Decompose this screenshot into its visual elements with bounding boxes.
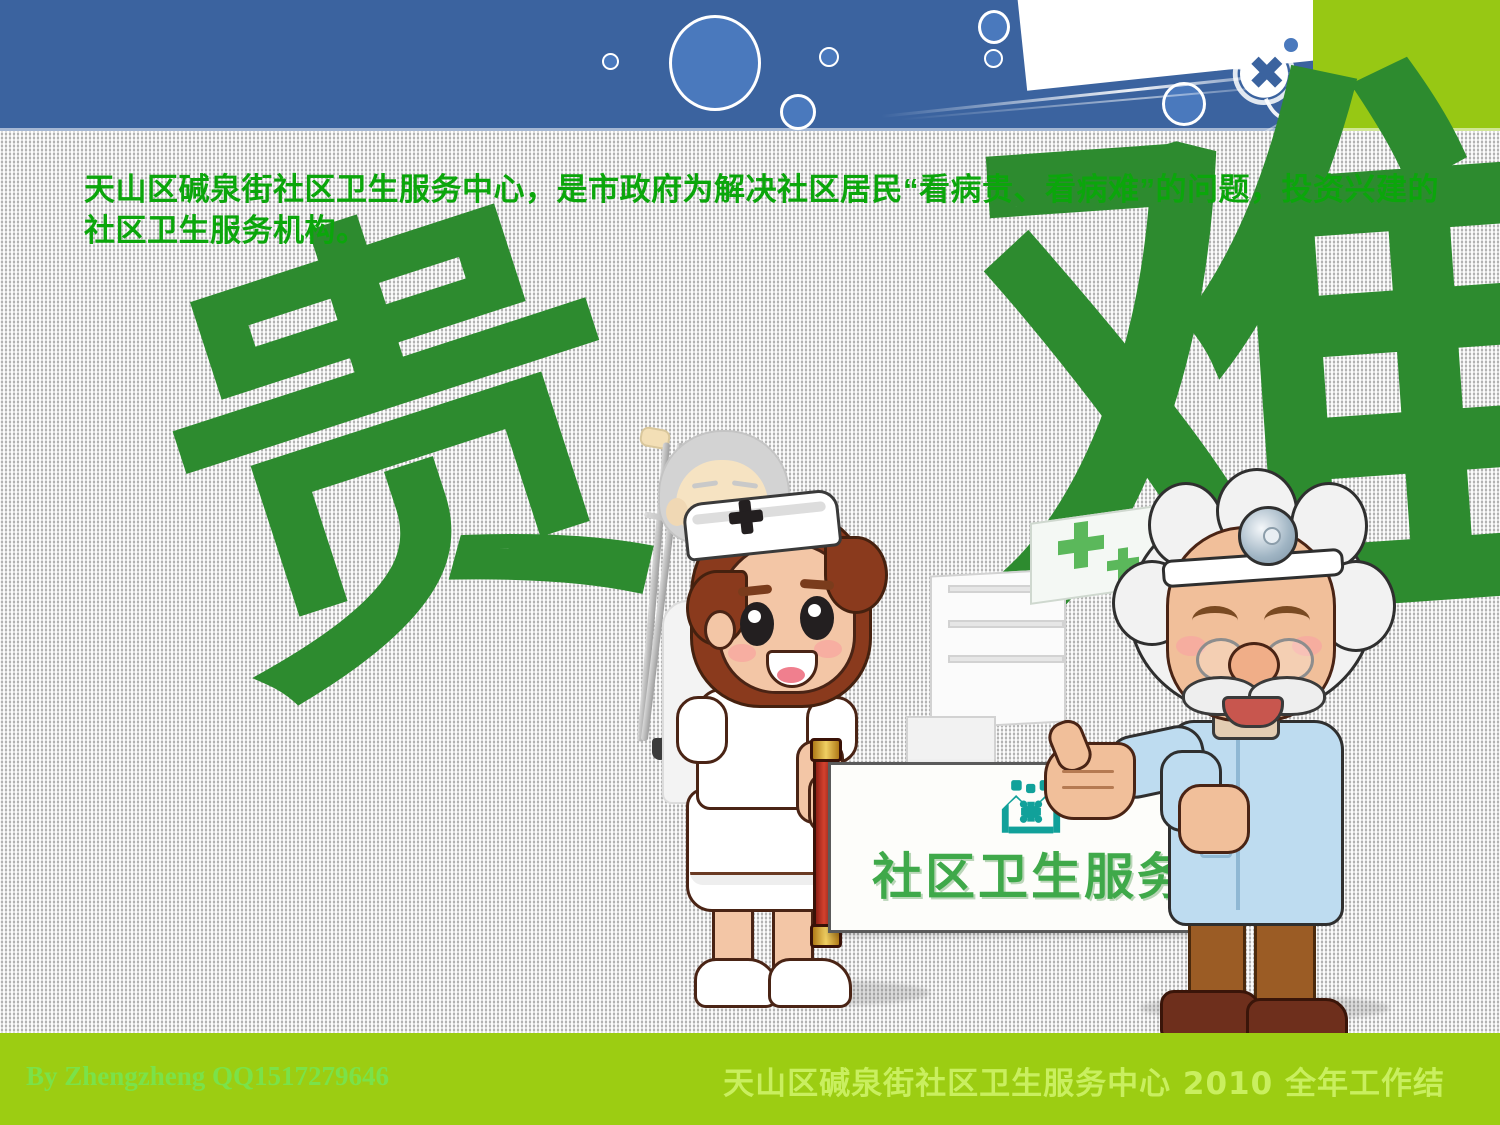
slide-canvas: 贵 难 天山区碱泉街社区卫生服务中心，是市政府为解决社区居民“看病贵、看病难”的…: [0, 0, 1500, 1125]
header-bubble: [819, 47, 839, 67]
header-bubble: [602, 53, 619, 70]
lead-paragraph: 天山区碱泉街社区卫生服务中心，是市政府为解决社区居民“看病贵、看病难”的问题，投…: [84, 170, 1464, 252]
header-bubble: [669, 15, 761, 111]
head-mirror-icon: [1238, 506, 1298, 566]
banner-pole-cap: [810, 738, 842, 762]
slide-footer: By Zhengzheng QQ1517279646 天山区碱泉街社区卫生服务中…: [0, 1033, 1500, 1125]
nurse-shoe: [694, 958, 778, 1008]
nurse-shoe: [768, 958, 852, 1008]
header-bubble: [780, 94, 816, 130]
header-bubble: [978, 10, 1010, 44]
footer-credit: By Zhengzheng QQ1517279646: [26, 1061, 389, 1092]
illustration-group: 社区卫生服务: [600, 420, 1440, 1040]
doctor-hand: [1178, 784, 1250, 854]
footer-title: 天山区碱泉街社区卫生服务中心 2010 全年工作结: [723, 1058, 1445, 1103]
